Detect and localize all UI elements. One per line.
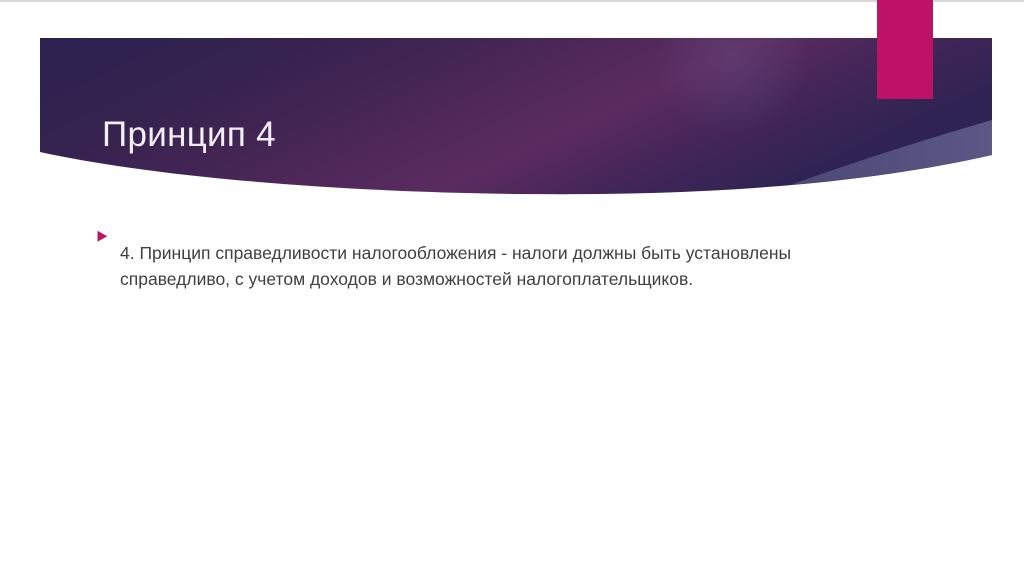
triangle-right-bullet-icon — [96, 230, 109, 243]
header-banner — [0, 0, 1024, 200]
slide-canvas: Принцип 4 4. Принцип справедливости нало… — [0, 0, 1024, 576]
magenta-accent-bar — [877, 0, 933, 99]
bullet-text: 4. Принцип справедливости налогообложени… — [120, 240, 836, 293]
slide-title: Принцип 4 — [102, 116, 276, 155]
body-content: 4. Принцип справедливости налогообложени… — [96, 222, 836, 310]
